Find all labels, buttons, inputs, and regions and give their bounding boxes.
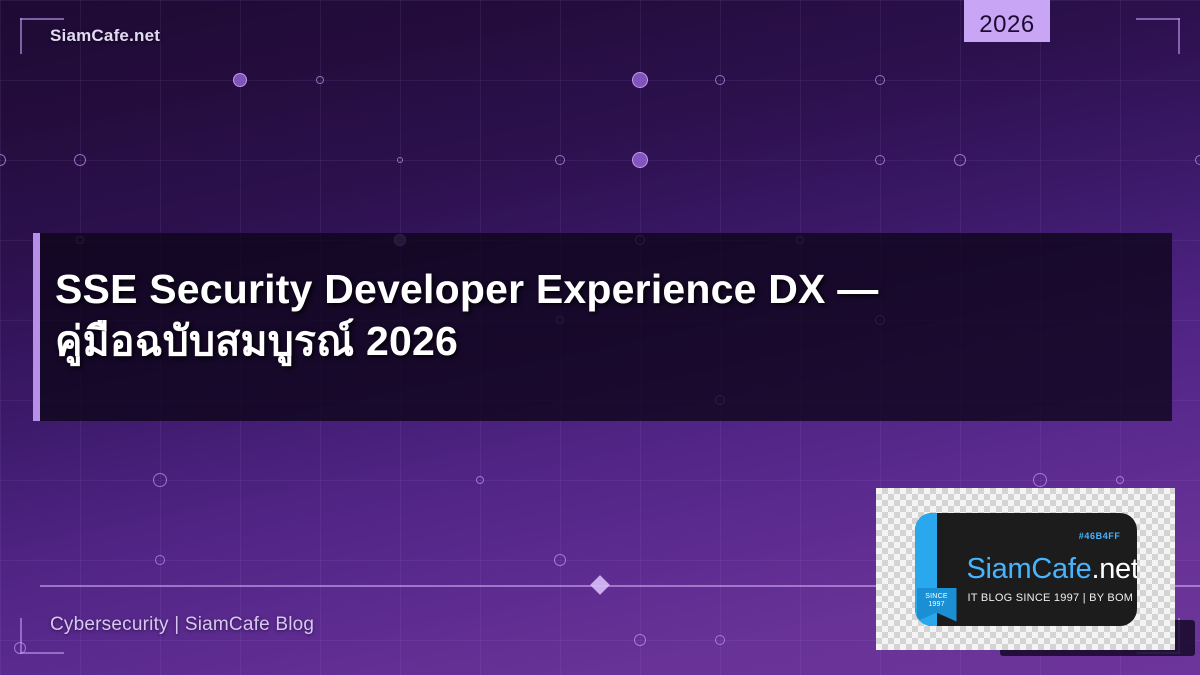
decor-dot (555, 155, 565, 165)
decor-dot (715, 635, 725, 645)
decor-dot (1033, 473, 1047, 487)
decor-dot (632, 72, 648, 88)
logo-image-frame: SINCE 1997 #46B4FF SiamCafe.net IT BLOG … (876, 488, 1175, 650)
decor-dot (153, 473, 167, 487)
decor-dot (155, 555, 165, 565)
decor-dot (954, 154, 966, 166)
logo-tagline: IT BLOG SINCE 1997 | BY BOM (968, 592, 1134, 604)
decor-dot (74, 154, 86, 166)
year-badge: 2026 (964, 0, 1050, 42)
poster-canvas: SiamCafe.net 2026 SSE Security Developer… (0, 0, 1200, 675)
decor-dot (1195, 155, 1200, 165)
decor-dot (233, 73, 247, 87)
ribbon-line-2: 1997 (917, 601, 957, 610)
since-ribbon-icon: SINCE 1997 (917, 588, 957, 622)
separator-diamond-marker (590, 575, 610, 595)
logo-brand-name: SiamCafe.net (967, 553, 1137, 586)
decor-dot (634, 634, 646, 646)
title-accent-bar (33, 233, 40, 421)
decor-dot (316, 76, 324, 84)
decor-dot (715, 75, 725, 85)
decor-dot (554, 554, 566, 566)
decor-dot (0, 154, 6, 166)
ribbon-line-1: SINCE (917, 593, 957, 602)
corner-bracket-top-right (1136, 18, 1180, 54)
decor-dot (875, 155, 885, 165)
site-name-label: SiamCafe.net (50, 26, 160, 46)
page-title: SSE Security Developer Experience DX — ค… (55, 263, 1155, 367)
decor-dot (1116, 476, 1124, 484)
logo-brand-tld: .net (1091, 553, 1136, 585)
decor-dot (397, 157, 403, 163)
decor-dot (476, 476, 484, 484)
category-label: Cybersecurity | SiamCafe Blog (50, 614, 314, 636)
decor-dot (14, 642, 26, 654)
decor-dot (632, 152, 648, 168)
logo-brand-primary: SiamCafe (967, 553, 1092, 585)
logo-card: SINCE 1997 #46B4FF SiamCafe.net IT BLOG … (915, 513, 1137, 626)
brand-hex-label: #46B4FF (1079, 531, 1121, 541)
decor-dot (875, 75, 885, 85)
